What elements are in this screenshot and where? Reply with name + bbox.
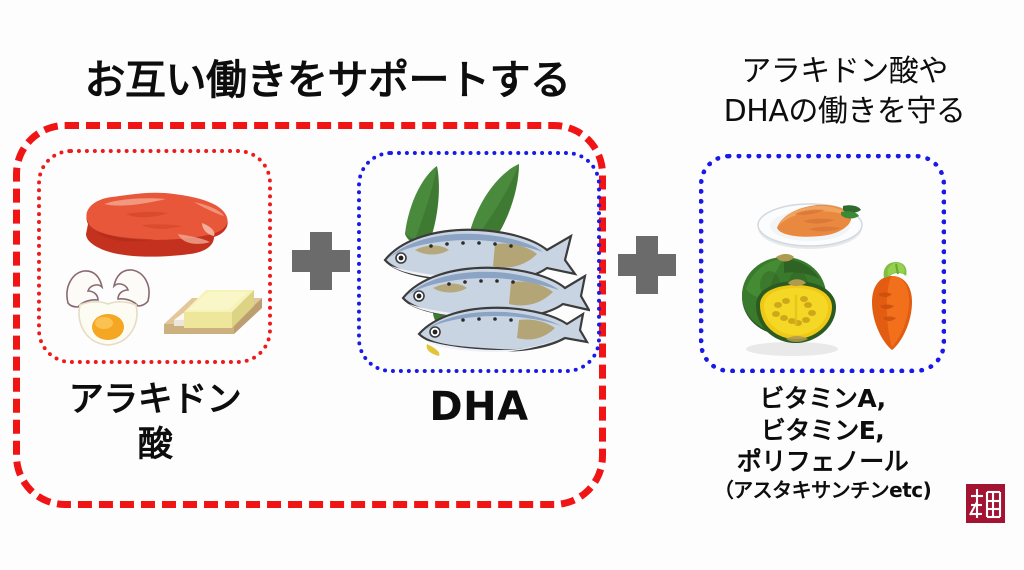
arachidonic-caption-line1: アラキドン: [37, 378, 273, 423]
antioxidant-caption: ビタミンA, ビタミンE, ポリフェノール （アスタキサンチンetc): [690, 383, 955, 503]
page-title: お互い働きをサポートする: [0, 58, 655, 104]
right-section-title-line1: アラキドン酸や: [665, 52, 1024, 92]
butter-illustration: [158, 268, 268, 360]
antioxidant-caption-line1: ビタミンA,: [690, 383, 955, 415]
cracked-egg-illustration: [60, 265, 156, 355]
right-section-title: アラキドン酸や DHAの働きを守る: [665, 52, 1024, 131]
carrot-illustration: [862, 258, 926, 354]
kanji-seal-stamp: [966, 484, 1005, 523]
right-section-title-line2: DHAの働きを守る: [665, 92, 1024, 132]
dha-caption: DHA: [357, 384, 601, 430]
antioxidant-caption-line4: （アスタキサンチンetc): [690, 478, 955, 503]
arachidonic-caption: アラキドン 酸: [37, 378, 273, 468]
infographic-canvas: お互い働きをサポートする アラキドン酸や DHAの働きを守る: [0, 0, 1024, 570]
plus-sign-icon-1: [292, 232, 350, 290]
arachidonic-caption-line2: 酸: [37, 423, 273, 468]
sardines-illustration: [375, 162, 590, 362]
antioxidant-caption-line3: ポリフェノール: [690, 446, 955, 478]
salmon-plate-illustration: [755, 190, 865, 252]
steak-illustration: [74, 190, 234, 262]
plus-sign-icon-2: [618, 236, 676, 294]
antioxidant-caption-line2: ビタミンE,: [690, 415, 955, 447]
kabocha-squash-illustration: [736, 245, 852, 357]
